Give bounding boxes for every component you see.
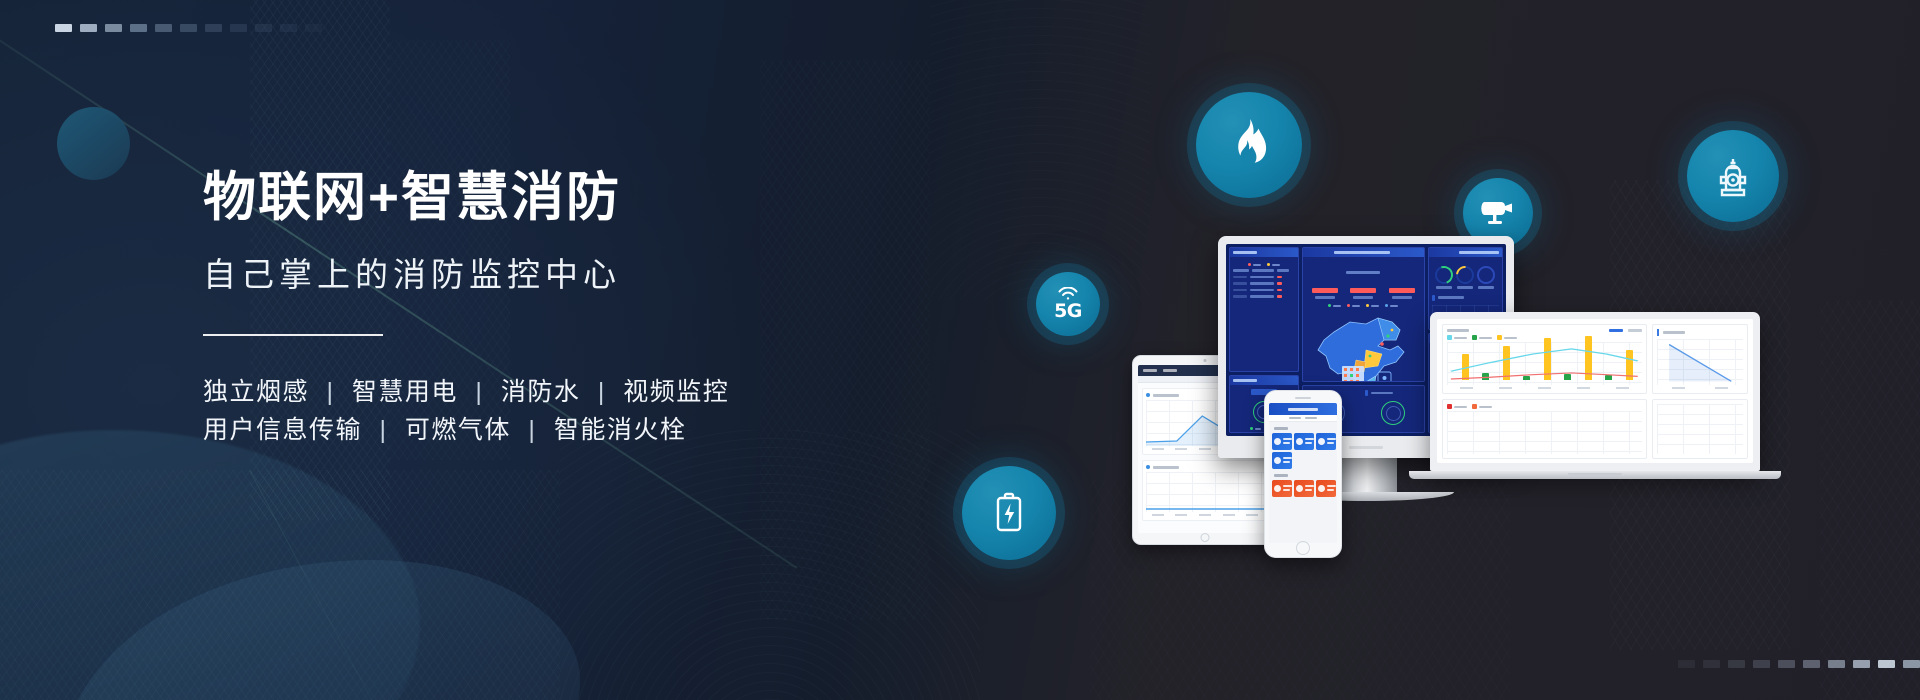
feature-list: 独立烟感 | 智慧用电 | 消防水 | 视频监控 用户信息传输 | 可燃气体 |…	[203, 373, 903, 451]
gauge-item	[1435, 266, 1453, 289]
device-status-header	[1230, 376, 1298, 385]
gauge-item	[1477, 266, 1495, 289]
flame-icon	[1196, 92, 1302, 198]
kpi-stat	[1389, 288, 1415, 299]
kpi-stats-row	[1306, 282, 1421, 302]
laptop-bar-chart-card	[1442, 324, 1647, 394]
feature-separator: |	[519, 416, 545, 444]
feature-item: 用户信息传输	[203, 416, 362, 444]
tablet-home-button[interactable]	[1201, 533, 1210, 542]
phone-card[interactable]	[1294, 480, 1314, 497]
laptop-empty-grid	[1447, 411, 1642, 454]
phone-app-header	[1269, 403, 1337, 415]
phone-screen	[1269, 403, 1337, 543]
feature-separator: |	[370, 416, 396, 444]
laptop-top-row	[1442, 324, 1748, 394]
device-mockup-cluster	[1100, 280, 1820, 580]
tablet-axis-2	[1146, 514, 1264, 516]
laptop-base	[1409, 471, 1781, 479]
battery-icon	[962, 466, 1056, 560]
map-legend	[1306, 302, 1421, 310]
table-row	[1233, 276, 1295, 279]
alarm-list-header	[1230, 248, 1298, 257]
arc-pattern-b	[930, 0, 1150, 300]
gauge-row	[1432, 261, 1499, 292]
laptop-bottom-row	[1442, 399, 1748, 459]
feature-item: 独立烟感	[203, 378, 309, 406]
laptop-table-legend	[1447, 404, 1642, 409]
china-map-chart	[1306, 310, 1421, 382]
map-overview-panel	[1302, 247, 1425, 382]
laptop-chart-header	[1447, 329, 1642, 332]
laptop-line-chart-card	[1652, 324, 1748, 394]
table-row	[1233, 269, 1295, 272]
background-blob-secondary	[60, 560, 580, 700]
laptop-decline-chart	[1657, 339, 1743, 385]
feature-line-2: 用户信息传输 | 可燃气体 | 智能消火栓	[203, 411, 903, 450]
arc-pattern-a	[560, 430, 980, 700]
gauge-item	[1456, 266, 1474, 289]
laptop-combo-chart	[1447, 342, 1642, 385]
kpi-stat	[1350, 288, 1376, 299]
tablet-camera-dot	[1204, 359, 1207, 362]
phone-device	[1264, 390, 1342, 558]
laptop-small-chart-header	[1657, 329, 1743, 336]
alarm-list-body	[1230, 257, 1298, 306]
alarm-list-panel	[1229, 247, 1299, 372]
phone-card[interactable]	[1294, 433, 1314, 450]
page-title: 物联网+智慧消防	[203, 170, 903, 226]
laptop-screen	[1437, 319, 1753, 463]
kpi-title	[1306, 261, 1421, 279]
dash-row-top-left	[55, 24, 322, 32]
laptop-side-card	[1652, 399, 1748, 459]
feature-separator: |	[589, 378, 615, 406]
phone-tabs[interactable]	[1269, 415, 1337, 422]
laptop-bezel	[1430, 312, 1760, 471]
laptop-table-card	[1442, 399, 1647, 459]
hydrant-icon	[1687, 130, 1779, 222]
hero-banner: 物联网+智慧消防 自己掌上的消防监控中心 独立烟感 | 智慧用电 | 消防水 |…	[0, 0, 1920, 700]
phone-section-orange	[1269, 469, 1337, 497]
mesh-pattern-d	[0, 470, 560, 700]
5g-icon: 5G	[1036, 272, 1100, 336]
phone-card[interactable]	[1316, 433, 1336, 450]
laptop-small-axis	[1657, 387, 1743, 389]
table-row	[1233, 295, 1295, 298]
laptop-chart-axis	[1447, 387, 1642, 389]
feature-item: 视频监控	[623, 378, 729, 406]
feature-separator: |	[466, 378, 492, 406]
feature-item: 可燃气体	[405, 416, 511, 444]
phone-card[interactable]	[1272, 433, 1292, 450]
phone-section-blue	[1269, 422, 1337, 469]
phone-card[interactable]	[1272, 452, 1292, 469]
feature-line-1: 独立烟感 | 智慧用电 | 消防水 | 视频监控	[203, 373, 903, 412]
alarm-legend	[1233, 261, 1295, 269]
feature-item: 消防水	[501, 378, 581, 406]
background-blob	[0, 430, 420, 700]
mesh-pattern-right-b	[1820, 300, 1920, 700]
laptop-device	[1430, 312, 1760, 479]
map-panel-body	[1303, 257, 1424, 382]
map-panel-header	[1303, 248, 1424, 257]
phone-card-grid-orange	[1272, 480, 1334, 497]
laptop-side-grid	[1657, 404, 1743, 454]
hero-copy: 物联网+智慧消防 自己掌上的消防监控中心 独立烟感 | 智慧用电 | 消防水 |…	[203, 170, 903, 450]
phone-card-grid-blue	[1272, 433, 1334, 469]
dash-row-bottom-right	[1678, 660, 1920, 668]
monitor-stand-neck	[1335, 458, 1397, 492]
radar-chart-right	[1365, 390, 1421, 426]
feature-separator: |	[317, 378, 343, 406]
gauge-panel-header	[1429, 248, 1502, 257]
kpi-stat	[1312, 288, 1338, 299]
feature-item: 智能消火栓	[554, 416, 687, 444]
glow-circle-decor	[57, 107, 130, 180]
phone-card[interactable]	[1272, 480, 1292, 497]
table-row	[1233, 289, 1295, 292]
diagonal-line-secondary	[249, 470, 447, 700]
feature-item: 智慧用电	[352, 378, 458, 406]
5g-label: 5G	[1054, 302, 1082, 321]
divider	[203, 334, 383, 336]
phone-card[interactable]	[1316, 480, 1336, 497]
table-row	[1233, 282, 1295, 285]
laptop-chart-tabs[interactable]	[1609, 329, 1642, 332]
page-subtitle: 自己掌上的消防监控中心	[203, 248, 903, 296]
